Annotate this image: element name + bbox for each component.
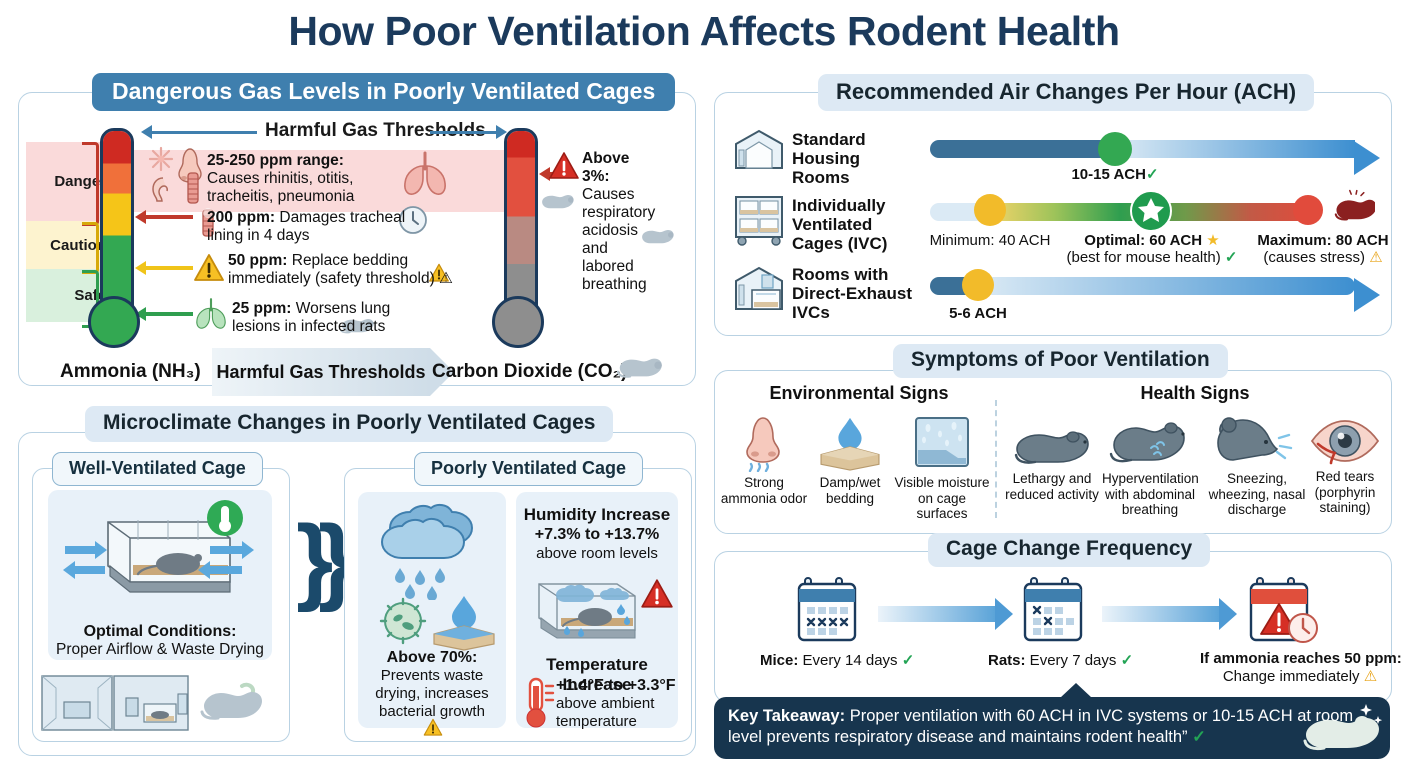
room-ivc-icon (732, 265, 786, 315)
ammonia-thermometer-bulb (88, 296, 140, 348)
ach-row-1-opt-caption: Optimal: 60 ACH ★ (best for mouse health… (1062, 232, 1242, 267)
symptom-env-0: Strong ammonia odor (716, 416, 812, 506)
ach-row-1-max-sub: (causes stress) (1263, 249, 1365, 266)
poor-left-text: Prevents waste drying, increases bacteri… (375, 667, 488, 720)
danger-triangle-icon (548, 151, 580, 181)
symptom-health-3: Red tears (porphyrin staining) (1297, 416, 1393, 516)
co2-thermometer-bulb (492, 296, 544, 348)
symptom-env-0-caption: Strong ammonia odor (716, 475, 812, 506)
optimal-star-badge-icon (1130, 190, 1172, 232)
gas-item-0: 25-250 ppm range: Causes rhinitis, otiti… (207, 152, 397, 206)
humidity-title: Humidity Increase (524, 505, 670, 524)
page-title: How Poor Ventilation Affects Rodent Heal… (0, 8, 1408, 55)
symptom-health-2-caption: Sneezing, wheezing, nasal discharge (1205, 471, 1309, 518)
pointer-50ppm (145, 266, 193, 270)
environmental-signs-title: Environmental Signs (740, 383, 978, 404)
ach-row-0-label: Standard Housing Rooms (792, 130, 922, 187)
rat-icon-room (200, 680, 270, 728)
green-thermometer-badge-icon (205, 498, 245, 538)
poorly-ventilated-header: Poorly Ventilated Cage (414, 452, 643, 486)
takeaway-bold: Key Takeaway: (728, 707, 845, 725)
danger-triangle-humid-icon (640, 578, 674, 610)
ach-row-0-marker-dot (1098, 132, 1132, 166)
cage-step-2-text: Change immediately (1223, 668, 1360, 685)
gas-item-1-value: 200 ppm: (207, 209, 275, 226)
symptom-health-1: Hyperventilation with abdominal breathin… (1102, 414, 1198, 518)
ach-row-1-max-dot (1293, 195, 1323, 225)
symptom-env-2: Visible moisture on cage surfaces (894, 416, 990, 522)
cage-flow-arrow-1 (1102, 606, 1220, 622)
airflow-arrows-icon (60, 532, 270, 592)
room-icon (732, 128, 786, 172)
cage-step-0-text: Every 14 days (798, 652, 897, 669)
wet-bedding-icon (816, 416, 884, 472)
infographic-root: How Poor Ventilation Affects Rodent Heal… (0, 0, 1408, 768)
ach-row-2-track-rest (978, 277, 1355, 295)
co2-thermometer (492, 128, 544, 348)
rat-icon-co2-1 (540, 190, 582, 214)
housing-room-icon (40, 672, 190, 734)
nose-smell-icon (741, 416, 787, 472)
ach-row-1-opt-sub: (best for mouse health) (1067, 249, 1221, 266)
symptom-health-0-caption: Lethargy and reduced activity (1004, 471, 1100, 502)
hyperventilating-mouse-icon (1109, 414, 1191, 468)
takeaway-pointer (1060, 683, 1092, 698)
threshold-arrow-left-head (141, 125, 152, 139)
dangerous-gas-header: Dangerous Gas Levels in Poorly Ventilate… (92, 73, 675, 111)
co2-name-label: Carbon Dioxide (CO₂) (432, 361, 627, 383)
ach-row-1-min-label: Minimum: 40 ACH (930, 232, 1051, 249)
calendar-blue-icon (796, 576, 858, 646)
cage-step-1-caption: Rats: Every 7 days ✓ (988, 652, 1128, 670)
ivc-rack-icon (732, 194, 786, 246)
well-caption-text: Proper Airflow & Waste Drying (56, 641, 264, 658)
threshold-arrow-right-line (430, 131, 497, 134)
red-eye-icon (1308, 416, 1382, 466)
gas-item-0-text: Causes rhinitis, otitis, tracheitis, pne… (207, 170, 354, 205)
temperature-sub: above ambient temperature (556, 695, 654, 730)
lungs-icon (398, 150, 452, 198)
white-rat-icon (1300, 700, 1384, 756)
bottom-threshold-label: Harmful Gas Thresholds (216, 362, 425, 383)
rain-cloud-icon (374, 502, 492, 600)
co2-thermometer-fill (507, 131, 535, 321)
ach-row-1-min-dot (974, 194, 1006, 226)
sneezing-mouse-icon (1217, 414, 1297, 468)
ach-row-1-label: Individually Ventilated Cages (IVC) (792, 196, 922, 253)
calendar-alert-icon (1248, 576, 1318, 648)
ach-row-2-marker-label: 5-6 ACH (949, 305, 1007, 322)
bottom-threshold-arrow: Harmful Gas Thresholds (212, 348, 430, 396)
temperature-value-block: +1.4°F to +3.3°F above ambient temperatu… (556, 676, 680, 731)
symptom-health-0: Lethargy and reduced activity (1004, 420, 1100, 502)
key-takeaway-banner: Key Takeaway: Proper ventilation with 60… (714, 697, 1390, 759)
humidity-value: +7.3% to +13.7% (535, 526, 660, 543)
trachea-icon (182, 172, 204, 208)
well-ventilated-caption: Optimal Conditions: Proper Airflow & Was… (48, 622, 272, 660)
ach-row-0-marker-label: 10-15 ACH (1071, 166, 1145, 183)
ach-row-1-opt-label: Optimal: 60 ACH (1084, 232, 1202, 249)
lethargic-mouse-icon (1011, 420, 1093, 468)
warning-icon-poor-left (423, 718, 443, 737)
temperature-value: +1.4°F to +3.3°F (556, 677, 676, 694)
ammonia-thermometer-tube (100, 128, 134, 324)
well-ventilated-header: Well-Ventilated Cage (52, 452, 263, 486)
calendar-blue-icon-2 (1022, 576, 1084, 646)
ach-row-1-min-caption: Minimum: 40 ACH (910, 232, 1070, 249)
symptom-health-1-caption: Hyperventilation with abdominal breathin… (1102, 471, 1198, 518)
cage-step-2-caption: If ammonia reaches 50 ppm: Change immedi… (1200, 650, 1400, 685)
ach-row-2-track-arrowhead (1354, 278, 1380, 312)
ammonia-thermometer (88, 128, 140, 348)
well-caption-bold: Optimal Conditions: (84, 623, 237, 640)
ach-header: Recommended Air Changes Per Hour (ACH) (818, 74, 1314, 111)
sneeze-icon (148, 146, 174, 172)
poor-left-caption: Above 70%: Prevents waste drying, increa… (358, 648, 506, 721)
symptoms-header: Symptoms of Poor Ventilation (893, 344, 1228, 378)
humidity-block: Humidity Increase +7.3% to +13.7% above … (516, 505, 678, 563)
symptom-health-3-caption: Red tears (porphyrin staining) (1297, 469, 1393, 516)
ach-row-0-marker-caption: 10-15 ACH✓ (1045, 166, 1185, 183)
threshold-arrow-left-line (152, 131, 257, 134)
gas-item-0-value: 25-250 ppm range: (207, 152, 344, 169)
ach-row-2-marker-dot (962, 269, 994, 301)
symptoms-divider (995, 400, 997, 518)
gas-item-3: 25 ppm: Worsens lung lesions in infected… (232, 300, 437, 336)
symptom-health-2: Sneezing, wheezing, nasal discharge (1205, 414, 1309, 518)
red-thermometer-icon (522, 676, 558, 730)
cage-step-2-bold: If ammonia reaches 50 ppm: (1200, 650, 1402, 667)
rat-icon-bottom (617, 353, 673, 383)
ammonia-thermometer-fill (103, 131, 131, 321)
ach-row-2-label: Rooms with Direct-Exhaust IVCs (792, 265, 922, 322)
cage-flow-arrow-0 (878, 606, 996, 622)
cage-step-1-bold: Rats: (988, 652, 1026, 669)
cage-step-1-text: Every 7 days (1026, 652, 1117, 669)
condensation-icon (912, 416, 972, 472)
gas-item-co2: Above 3%: Causes respiratory acidosis an… (582, 150, 652, 294)
lungs-green-icon (192, 297, 230, 331)
warning-icon (193, 253, 225, 283)
symptom-env-1-caption: Damp/wet bedding (802, 475, 898, 506)
microclimate-header: Microclimate Changes in Poorly Ventilate… (85, 406, 613, 442)
stressed-rat-icon (1333, 186, 1375, 226)
gas-item-3-value: 25 ppm: (232, 300, 291, 317)
gas-item-co2-value: Above 3%: (582, 150, 629, 185)
symptom-env-1: Damp/wet bedding (802, 416, 898, 506)
ach-row-0-track-rest (1115, 140, 1355, 158)
cage-step-0-bold: Mice: (760, 652, 798, 669)
cage-change-header: Cage Change Frequency (928, 533, 1210, 567)
humid-cage-icon (521, 570, 649, 652)
ear-icon (150, 176, 174, 204)
ach-row-0-track-filled (930, 140, 1115, 158)
pointer-25ppm (145, 312, 193, 316)
ach-row-2-marker-caption: 5-6 ACH (918, 305, 1038, 322)
symptom-env-2-caption: Visible moisture on cage surfaces (894, 475, 990, 522)
ammonia-name-label: Ammonia (NH₃) (60, 361, 201, 383)
ach-row-0-track-arrowhead (1354, 141, 1380, 175)
gas-item-2: 50 ppm: Replace bedding immediately (saf… (228, 252, 480, 288)
gas-item-2-value: 50 ppm: (228, 252, 287, 269)
cage-step-0-caption: Mice: Every 14 days ✓ (760, 652, 900, 670)
bacteria-icon (378, 596, 428, 646)
ach-row-1-max-caption: Maximum: 80 ACH (causes stress) ⚠ (1238, 232, 1408, 267)
humidity-sub: above room levels (536, 545, 658, 562)
gas-item-co2-text: Causes respiratory acidosis and labored … (582, 186, 655, 293)
ach-row-1-max-label: Maximum: 80 ACH (1257, 232, 1388, 249)
pointer-200ppm (145, 215, 193, 219)
co2-thermometer-tube (504, 128, 538, 324)
health-signs-title: Health Signs (1085, 383, 1305, 404)
wet-bedding-icon (430, 594, 498, 652)
gas-item-1: 200 ppm: Damages tracheal lining in 4 da… (207, 209, 407, 245)
